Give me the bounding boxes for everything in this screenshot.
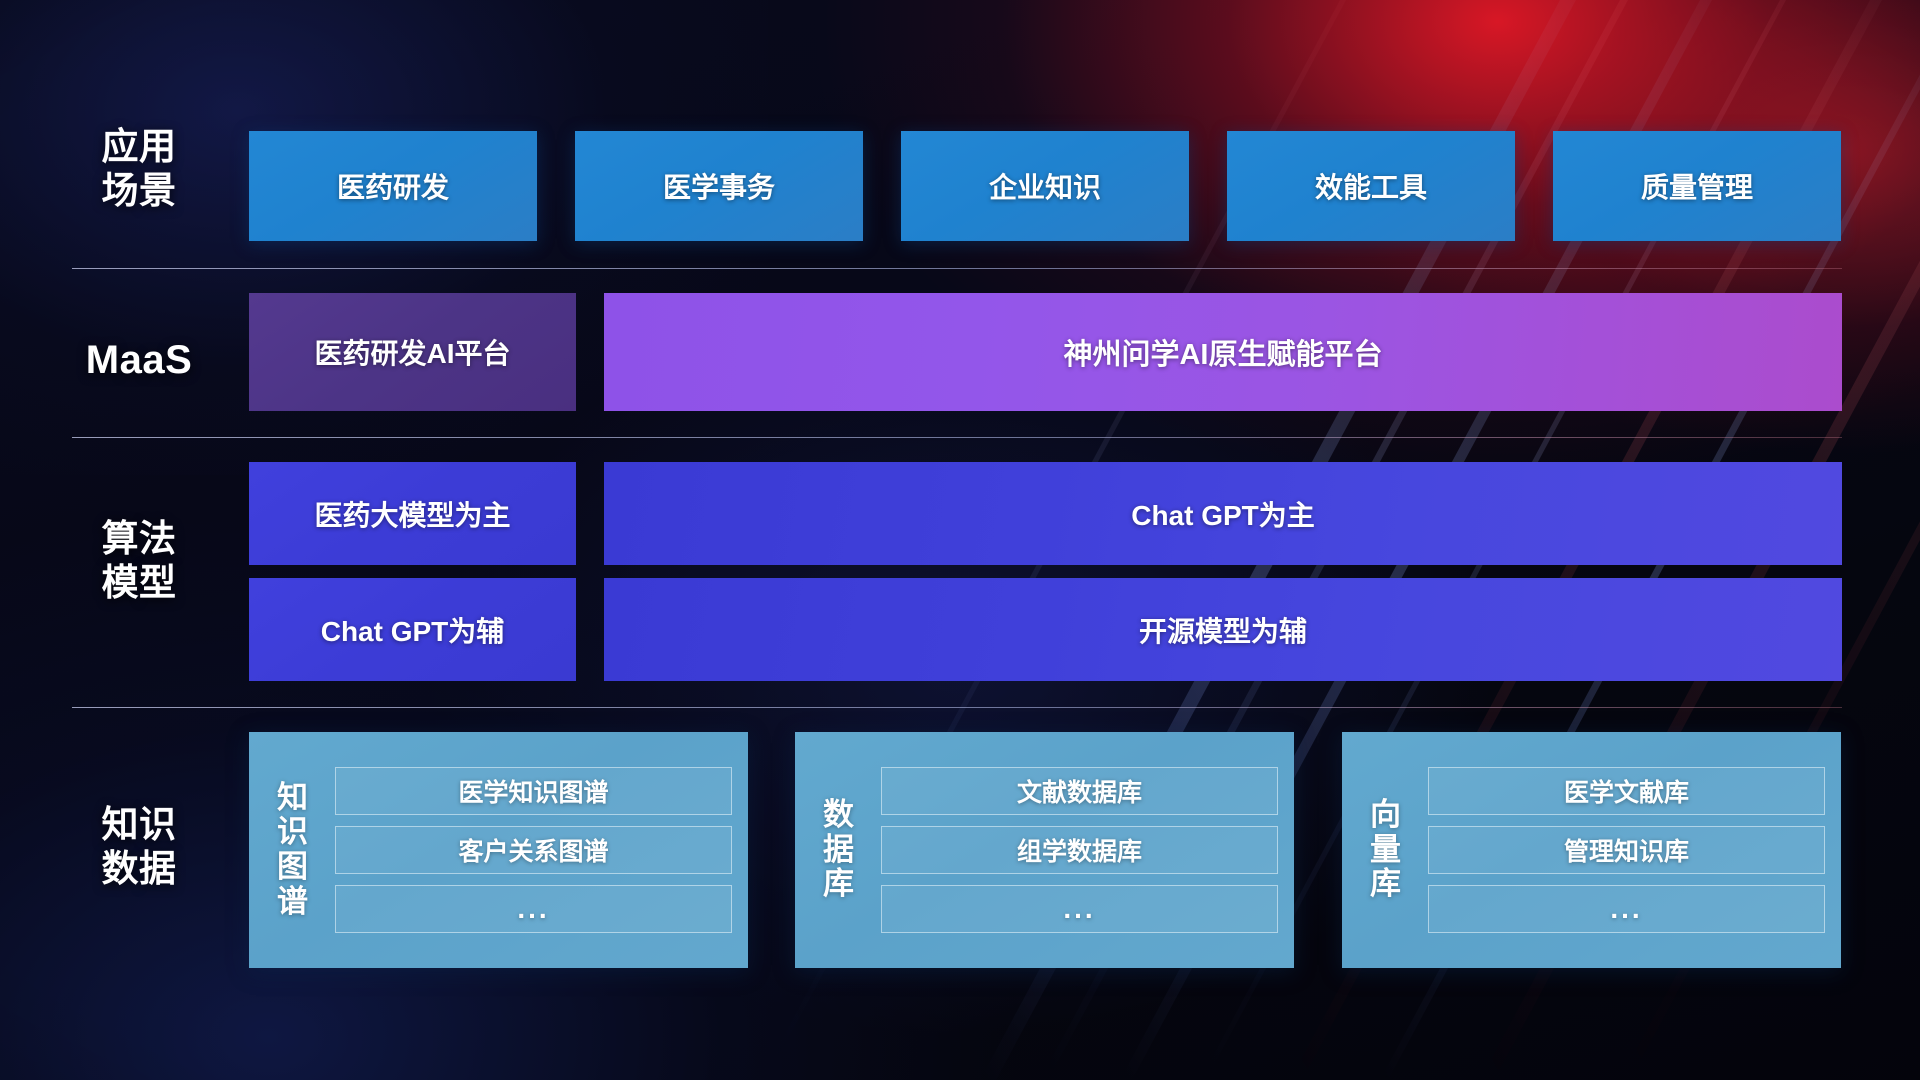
knowledge-group-database-label: 数据库 [805,746,873,954]
knowledge-item[interactable]: 客户关系图谱 [335,826,732,874]
maas-box-enablement-platform[interactable]: 神州问学AI原生赋能平台 [604,293,1842,411]
divider-application-maas [72,268,1842,269]
app-box-4-label: 效能工具 [1315,166,1427,206]
algo-box-chatgpt-primary[interactable]: Chat GPT为主 [604,462,1842,565]
knowledge-item-more[interactable]: ... [335,885,732,933]
app-box-1[interactable]: 医药研发 [249,131,537,241]
knowledge-group-vector-store-label: 向量库 [1352,746,1420,954]
knowledge-item-more[interactable]: ... [881,885,1278,933]
app-box-5[interactable]: 质量管理 [1553,131,1841,241]
knowledge-item[interactable]: 组学数据库 [881,826,1278,874]
layer-label-application: 应用 场景 [74,125,204,212]
algo-box-domain-primary-label: 医药大模型为主 [314,494,510,534]
divider-maas-algorithm [72,437,1842,438]
knowledge-item-more[interactable]: ... [1428,885,1825,933]
layer-label-knowledge: 知识 数据 [74,803,204,890]
knowledge-group-knowledge-graph[interactable]: 知识图谱 医学知识图谱 客户关系图谱 ... [249,732,748,968]
knowledge-group-database-items: 文献数据库 组学数据库 ... [873,746,1278,954]
algo-box-opensource-secondary[interactable]: 开源模型为辅 [604,578,1842,681]
app-box-2-label: 医学事务 [663,166,775,206]
layer-label-maas: MaaS [74,337,204,384]
knowledge-group-vector-store-items: 医学文献库 管理知识库 ... [1420,746,1825,954]
knowledge-group-knowledge-graph-items: 医学知识图谱 客户关系图谱 ... [327,746,732,954]
divider-algorithm-knowledge [72,707,1842,708]
knowledge-item[interactable]: 医学文献库 [1428,767,1825,815]
architecture-diagram: 应用 场景 医药研发 医学事务 企业知识 效能工具 质量管理 MaaS 医药研发… [0,0,1920,1080]
algo-box-domain-primary[interactable]: 医药大模型为主 [249,462,576,565]
maas-box-platform[interactable]: 医药研发AI平台 [249,293,576,411]
app-box-5-label: 质量管理 [1641,166,1753,206]
algo-box-chatgpt-secondary[interactable]: Chat GPT为辅 [249,578,576,681]
app-box-4[interactable]: 效能工具 [1227,131,1515,241]
app-box-3-label: 企业知识 [989,166,1101,206]
knowledge-item[interactable]: 管理知识库 [1428,826,1825,874]
app-box-3[interactable]: 企业知识 [901,131,1189,241]
app-box-2[interactable]: 医学事务 [575,131,863,241]
knowledge-group-knowledge-graph-label: 知识图谱 [259,746,327,954]
maas-box-platform-label: 医药研发AI平台 [314,332,510,372]
knowledge-item[interactable]: 医学知识图谱 [335,767,732,815]
layer-label-algorithm: 算法 模型 [74,517,204,604]
algo-box-opensource-secondary-label: 开源模型为辅 [1139,610,1307,650]
algo-box-chatgpt-secondary-label: Chat GPT为辅 [321,610,505,650]
maas-box-enablement-platform-label: 神州问学AI原生赋能平台 [1063,331,1382,373]
knowledge-item[interactable]: 文献数据库 [881,767,1278,815]
knowledge-group-database[interactable]: 数据库 文献数据库 组学数据库 ... [795,732,1294,968]
app-box-1-label: 医药研发 [337,166,449,206]
algo-box-chatgpt-primary-label: Chat GPT为主 [1131,494,1315,534]
knowledge-group-vector-store[interactable]: 向量库 医学文献库 管理知识库 ... [1342,732,1841,968]
